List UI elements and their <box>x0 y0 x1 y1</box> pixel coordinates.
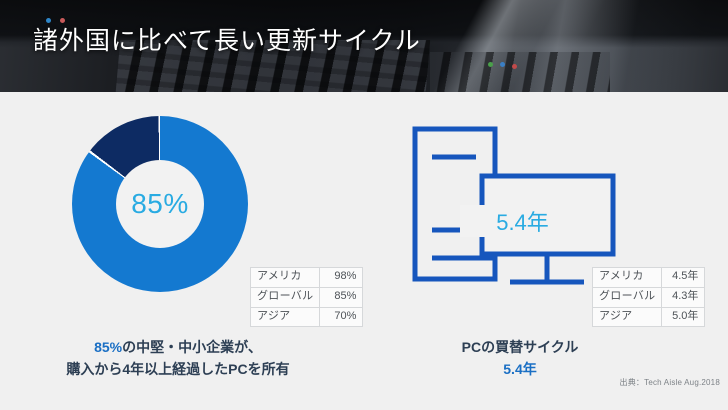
port-indicator-icon <box>512 64 517 69</box>
donut-center-value: 85% <box>72 188 248 220</box>
region-value: 70% <box>320 307 363 327</box>
region-label: アジア <box>251 307 320 327</box>
region-value: 5.0年 <box>662 307 705 327</box>
right-caption: PCの買替サイクル 5.4年 <box>390 337 650 380</box>
caption-line1: PCの買替サイクル <box>390 337 650 359</box>
page-title: 諸外国に比べて長い更新サイクル <box>33 21 421 57</box>
table-row: アジア 70% <box>251 307 363 327</box>
left-caption: 85%の中堅・中小企業が、 購入から4年以上経過したPCを所有 <box>6 337 350 380</box>
table-row: アメリカ 4.5年 <box>593 268 705 288</box>
caption-line1-rest: の中堅・中小企業が、 <box>122 339 262 355</box>
monitor-screen-label: 5.4年 <box>516 199 578 229</box>
slide-root: 諸外国に比べて長い更新サイクル 85% <box>0 0 728 410</box>
pc-ownership-table: アメリカ 98% グローバル 85% アジア 70% <box>250 267 363 327</box>
region-label: アジア <box>593 307 662 327</box>
table-row: グローバル 85% <box>251 287 363 307</box>
region-label: グローバル <box>593 287 662 307</box>
port-indicator-icon <box>500 62 505 67</box>
slide-body: 85% 5.4年 <box>0 92 728 410</box>
table-row: アジア 5.0年 <box>593 307 705 327</box>
region-value: 4.3年 <box>662 287 705 307</box>
keyboard-texture-secondary <box>430 52 610 92</box>
caption-line2: 購入から4年以上経過したPCを所有 <box>6 359 350 381</box>
table-row: アメリカ 98% <box>251 268 363 288</box>
port-indicator-icon <box>488 62 493 67</box>
caption-highlight-value: 85% <box>94 339 122 355</box>
region-value: 98% <box>320 268 363 288</box>
region-label: グローバル <box>251 287 320 307</box>
donut-chart: 85% <box>72 116 248 292</box>
replacement-cycle-table: アメリカ 4.5年 グローバル 4.3年 アジア 5.0年 <box>592 267 705 327</box>
header-banner: 諸外国に比べて長い更新サイクル <box>0 0 728 92</box>
source-footnote: 出典：Tech Aisle Aug.2018 <box>520 377 720 388</box>
region-value: 85% <box>320 287 363 307</box>
region-value: 4.5年 <box>662 268 705 288</box>
region-label: アメリカ <box>251 268 320 288</box>
table-row: グローバル 4.3年 <box>593 287 705 307</box>
region-label: アメリカ <box>593 268 662 288</box>
